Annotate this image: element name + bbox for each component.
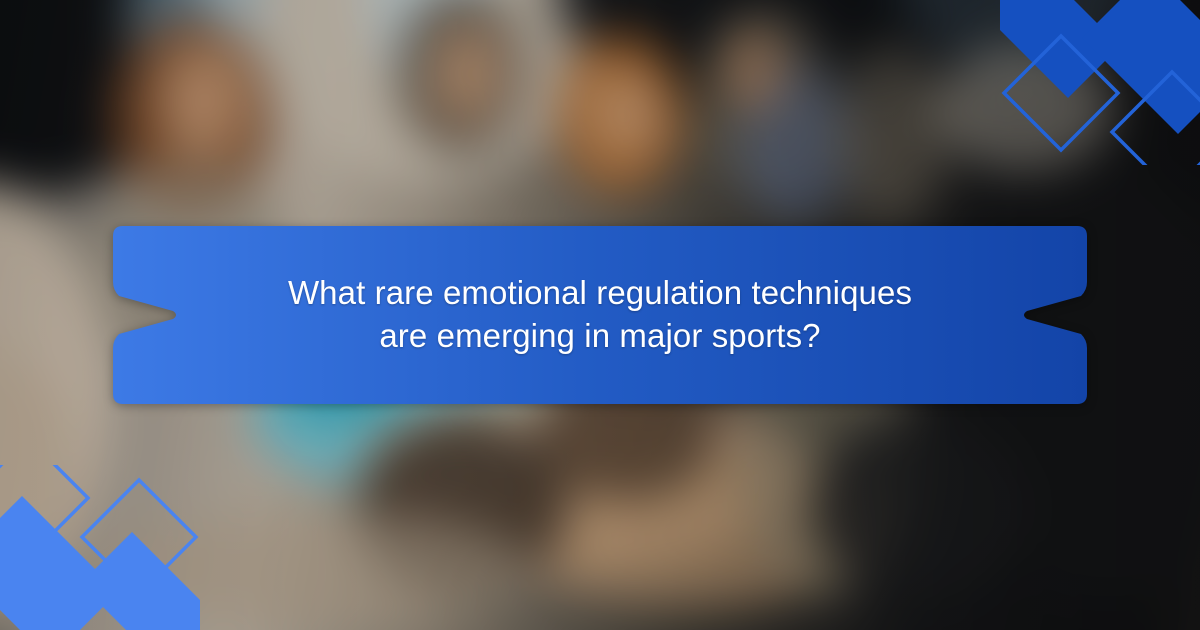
diamond-cluster-top-right: [1000, 0, 1200, 165]
headline-line-2: are emerging in major sports?: [379, 315, 820, 358]
headline-ribbon: What rare emotional regulation technique…: [105, 226, 1095, 404]
banner-card: What rare emotional regulation technique…: [0, 0, 1200, 630]
headline-text: What rare emotional regulation technique…: [105, 226, 1095, 404]
diamond-cluster-bottom-left: [0, 465, 200, 630]
filled-diamond-icon: [0, 496, 118, 630]
headline-line-1: What rare emotional regulation technique…: [288, 272, 912, 315]
filled-diamond-icon: [1082, 0, 1200, 134]
